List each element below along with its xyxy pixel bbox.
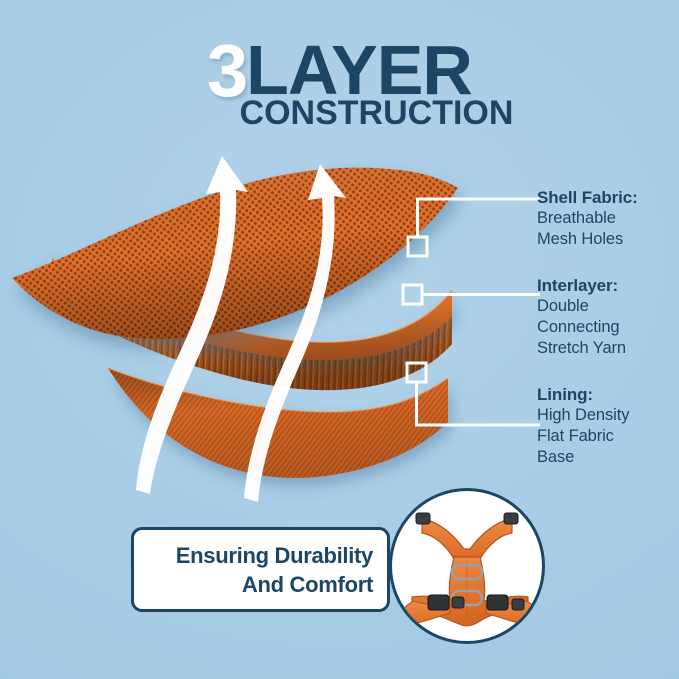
callout-marker-lining [407,363,426,382]
tagline-line-2: And Comfort [242,570,373,599]
callout-label-interlayer: Interlayer: Double Connecting Stretch Ya… [537,275,626,359]
callout-marker-interlayer [403,285,422,304]
callout-line1-lining: High Density [537,405,629,426]
callout-line2-interlayer: Connecting [537,317,626,338]
product-photo-circle [389,488,545,644]
callout-line3-interlayer: Stretch Yarn [537,338,626,359]
title-subtitle: CONSTRUCTION [0,94,679,133]
tagline-line-1: Ensuring Durability [176,541,373,570]
tagline-banner: Ensuring Durability And Comfort [131,527,390,612]
callout-line3-lining: Base [537,447,629,468]
callout-heading-interlayer: Interlayer: [537,275,626,296]
callout-marker-shell [408,237,427,256]
infographic-canvas: 3LAYER CONSTRUCTION [0,0,679,679]
callout-label-lining: Lining: High Density Flat Fabric Base [537,384,629,468]
callout-leader-lines [395,185,555,445]
callout-line1-shell: Breathable [537,208,638,229]
callout-heading-lining: Lining: [537,384,629,405]
page-title: 3LAYER CONSTRUCTION [0,34,679,134]
callout-line2-shell: Mesh Holes [537,229,638,250]
callout-line1-interlayer: Double [537,296,626,317]
callout-line2-lining: Flat Fabric [537,426,629,447]
harness-shoulder-straps [422,519,512,559]
dog-harness-illustration [392,491,542,641]
callout-heading-shell: Shell Fabric: [537,187,638,208]
callout-label-shell: Shell Fabric: Breathable Mesh Holes [537,187,638,250]
